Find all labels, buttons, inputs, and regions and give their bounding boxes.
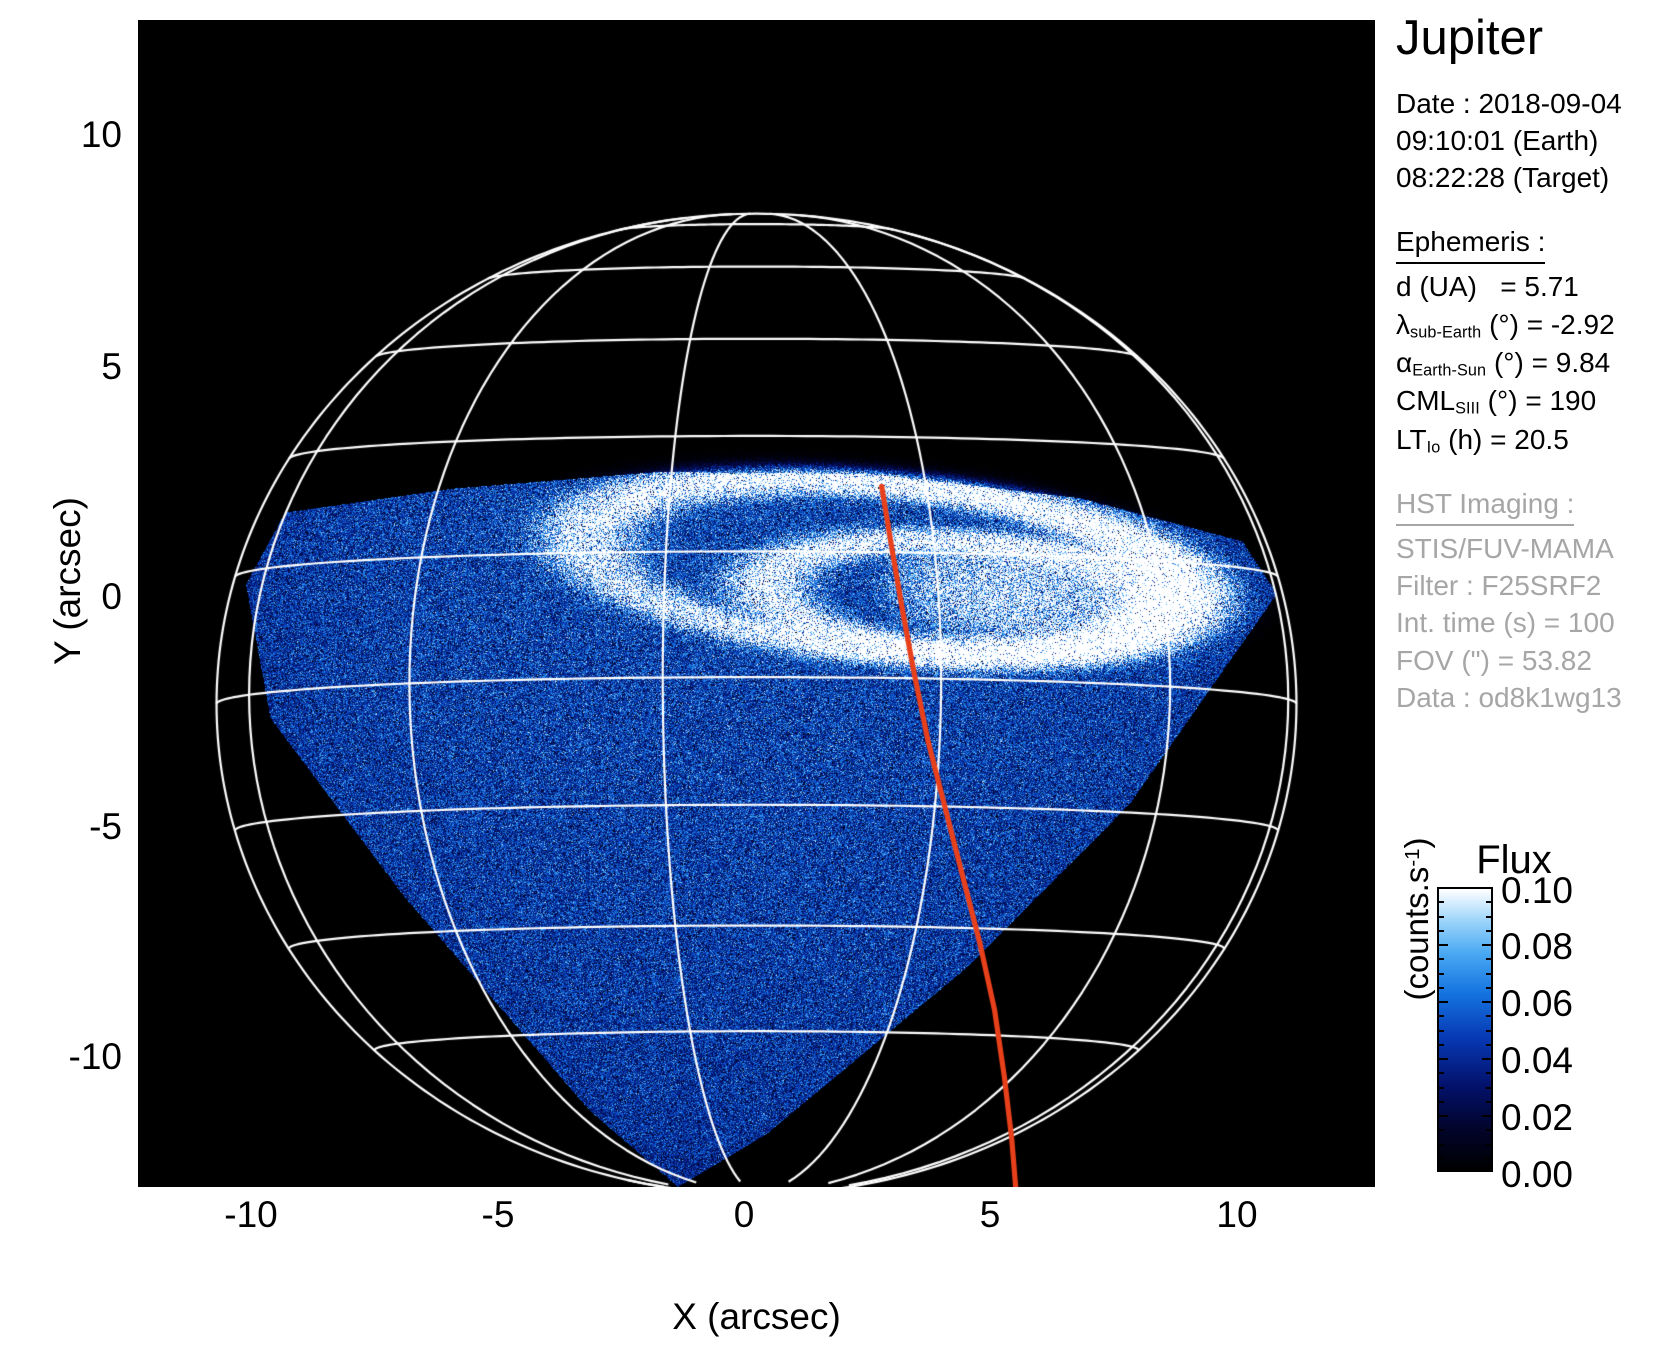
ephemeris-subscript: sub-Earth	[1410, 324, 1481, 342]
colorbar-minor-tick	[1439, 944, 1444, 946]
colorbar-minor-tick	[1486, 1072, 1491, 1074]
colorbar-axis-label: (counts.s-1)	[1398, 784, 1436, 1054]
colorbar-minor-tick	[1486, 1115, 1491, 1117]
ephemeris-label: CML	[1396, 385, 1455, 416]
observation-time-earth: 09:10:01 (Earth)	[1396, 122, 1677, 159]
colorbar-tick-label: 0.10	[1501, 872, 1573, 909]
colorbar-minor-tick	[1486, 987, 1491, 989]
colorbar-minor-tick	[1439, 1087, 1444, 1089]
ephemeris-unit: (°)	[1489, 309, 1519, 340]
colorbar-minor-tick	[1439, 1044, 1444, 1046]
colorbar-tick-label: 0.00	[1501, 1156, 1573, 1193]
colorbar-minor-tick	[1486, 930, 1491, 932]
y-tick-label: 0	[2, 578, 122, 615]
colorbar-minor-tick	[1486, 1058, 1491, 1060]
spacer	[1396, 459, 1677, 485]
ephemeris-subscript: SIII	[1455, 400, 1480, 418]
ephemeris-unit: (°)	[1488, 385, 1518, 416]
colorbar-axis-label-main: (counts.s	[1398, 867, 1435, 1001]
colorbar-tick-label: 0.02	[1501, 1099, 1573, 1136]
colorbar-tick-label: 0.06	[1501, 985, 1573, 1022]
colorbar	[1437, 887, 1493, 1172]
hst-integration-time: Int. time (s) = 100	[1396, 604, 1677, 641]
colorbar-axis-label-tail: )	[1398, 837, 1435, 848]
ephemeris-label: α	[1396, 347, 1412, 378]
colorbar-minor-tick	[1439, 973, 1444, 975]
x-tick-label: 5	[920, 1196, 1060, 1233]
hst-data-id: Data : od8k1wg13	[1396, 679, 1677, 716]
colorbar-minor-tick	[1486, 1158, 1491, 1160]
spacer	[1396, 197, 1677, 223]
colorbar-minor-tick	[1486, 1129, 1491, 1131]
x-tick-label: 10	[1167, 1196, 1307, 1233]
ephemeris-value: = 190	[1525, 385, 1596, 416]
observation-info-panel: Jupiter Date : 2018-09-04 09:10:01 (Eart…	[1396, 0, 1677, 716]
colorbar-minor-tick	[1439, 930, 1444, 932]
colorbar-minor-tick	[1439, 1115, 1444, 1117]
ephemeris-value: = -2.92	[1527, 309, 1615, 340]
colorbar-minor-tick	[1486, 1101, 1491, 1103]
colorbar-minor-tick	[1439, 1015, 1444, 1017]
colorbar-minor-tick	[1439, 1030, 1444, 1032]
colorbar-minor-tick	[1439, 958, 1444, 960]
ephemeris-unit: (°)	[1494, 347, 1524, 378]
x-tick-label: -10	[181, 1196, 321, 1233]
colorbar-gradient	[1437, 887, 1493, 1172]
ephemeris-unit: (h)	[1448, 424, 1482, 455]
ephemeris-value: = 9.84	[1532, 347, 1611, 378]
ephemeris-row-distance: d (UA) = 5.71	[1396, 268, 1677, 306]
colorbar-minor-tick	[1439, 1058, 1444, 1060]
y-tick-label: -5	[2, 808, 122, 845]
colorbar-minor-tick	[1486, 1001, 1491, 1003]
ephemeris-row-cml: CMLSIII (°) = 190	[1396, 382, 1677, 420]
ephemeris-value: = 20.5	[1490, 424, 1569, 455]
colorbar-minor-tick	[1439, 1158, 1444, 1160]
colorbar-minor-tick	[1439, 1101, 1444, 1103]
hst-instrument: STIS/FUV-MAMA	[1396, 530, 1677, 567]
colorbar-minor-tick	[1439, 887, 1444, 889]
observation-time-target: 08:22:28 (Target)	[1396, 159, 1677, 196]
colorbar-minor-tick	[1439, 901, 1444, 903]
colorbar-axis-label-exponent: -1	[1401, 848, 1424, 866]
colorbar-minor-tick	[1486, 958, 1491, 960]
ephemeris-value: = 5.71	[1500, 271, 1579, 302]
colorbar-minor-tick	[1486, 944, 1491, 946]
colorbar-minor-tick	[1486, 973, 1491, 975]
x-tick-label: 0	[674, 1196, 814, 1233]
colorbar-minor-tick	[1439, 1001, 1444, 1003]
sky-image-plot	[138, 20, 1375, 1187]
colorbar-minor-tick	[1439, 1144, 1444, 1146]
colorbar-minor-tick	[1486, 1170, 1491, 1172]
colorbar-minor-tick	[1486, 916, 1491, 918]
ephemeris-row-phase-angle: αEarth-Sun (°) = 9.84	[1396, 344, 1677, 382]
colorbar-minor-tick	[1486, 1015, 1491, 1017]
colorbar-minor-tick	[1486, 1144, 1491, 1146]
colorbar-minor-tick	[1439, 1072, 1444, 1074]
colorbar-tick-label: 0.08	[1501, 928, 1573, 965]
hst-imaging-heading-wrap: HST Imaging :	[1396, 485, 1677, 526]
jupiter-aurora-image	[138, 20, 1375, 1187]
target-title: Jupiter	[1396, 14, 1677, 63]
ephemeris-label: λ	[1396, 309, 1410, 340]
colorbar-minor-tick	[1486, 901, 1491, 903]
observation-date: Date : 2018-09-04	[1396, 85, 1677, 122]
hst-filter: Filter : F25SRF2	[1396, 567, 1677, 604]
ephemeris-row-sub-earth-latitude: λsub-Earth (°) = -2.92	[1396, 306, 1677, 344]
ephemeris-subscript: Earth-Sun	[1412, 362, 1486, 380]
y-tick-label: 5	[2, 348, 122, 385]
ephemeris-label: LT	[1396, 424, 1427, 455]
colorbar-minor-tick	[1486, 1030, 1491, 1032]
colorbar-minor-tick	[1486, 1087, 1491, 1089]
ephemeris-heading: Ephemeris :	[1396, 223, 1545, 264]
colorbar-minor-tick	[1439, 987, 1444, 989]
colorbar-minor-tick	[1439, 1170, 1444, 1172]
colorbar-minor-tick	[1439, 1129, 1444, 1131]
hst-imaging-heading: HST Imaging :	[1396, 485, 1574, 526]
colorbar-minor-tick	[1486, 887, 1491, 889]
ephemeris-subscript: Io	[1427, 438, 1441, 456]
x-tick-label: -5	[428, 1196, 568, 1233]
y-tick-label: -10	[2, 1038, 122, 1075]
x-axis-label: X (arcsec)	[138, 1296, 1375, 1338]
hst-field-of-view: FOV (") = 53.82	[1396, 642, 1677, 679]
colorbar-minor-tick	[1439, 916, 1444, 918]
ephemeris-label: d (UA)	[1396, 271, 1477, 302]
y-tick-label: 10	[2, 116, 122, 153]
colorbar-tick-label: 0.04	[1501, 1042, 1573, 1079]
ephemeris-heading-wrap: Ephemeris :	[1396, 223, 1677, 264]
colorbar-minor-tick	[1486, 1044, 1491, 1046]
ephemeris-row-io-local-time: LTIo (h) = 20.5	[1396, 421, 1677, 459]
